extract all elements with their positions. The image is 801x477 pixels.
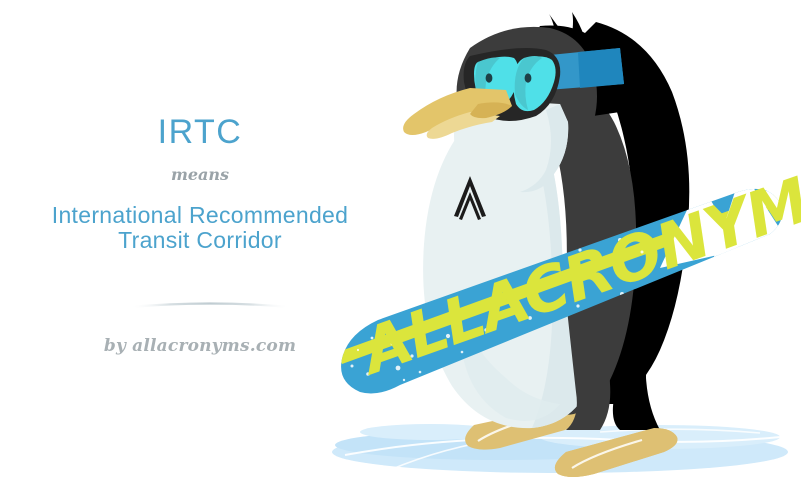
divider: [128, 300, 292, 310]
means-connector: means: [0, 164, 400, 186]
source-byline: by allacronyms.com: [0, 336, 400, 356]
acronym-card: ALLACRONYMS IRTC means International Rec…: [0, 0, 801, 477]
text-panel: IRTC means International Recommended Tra…: [0, 0, 400, 477]
acronym-title: IRTC: [0, 112, 400, 152]
acronym-definition: International Recommended Transit Corrid…: [30, 203, 370, 253]
